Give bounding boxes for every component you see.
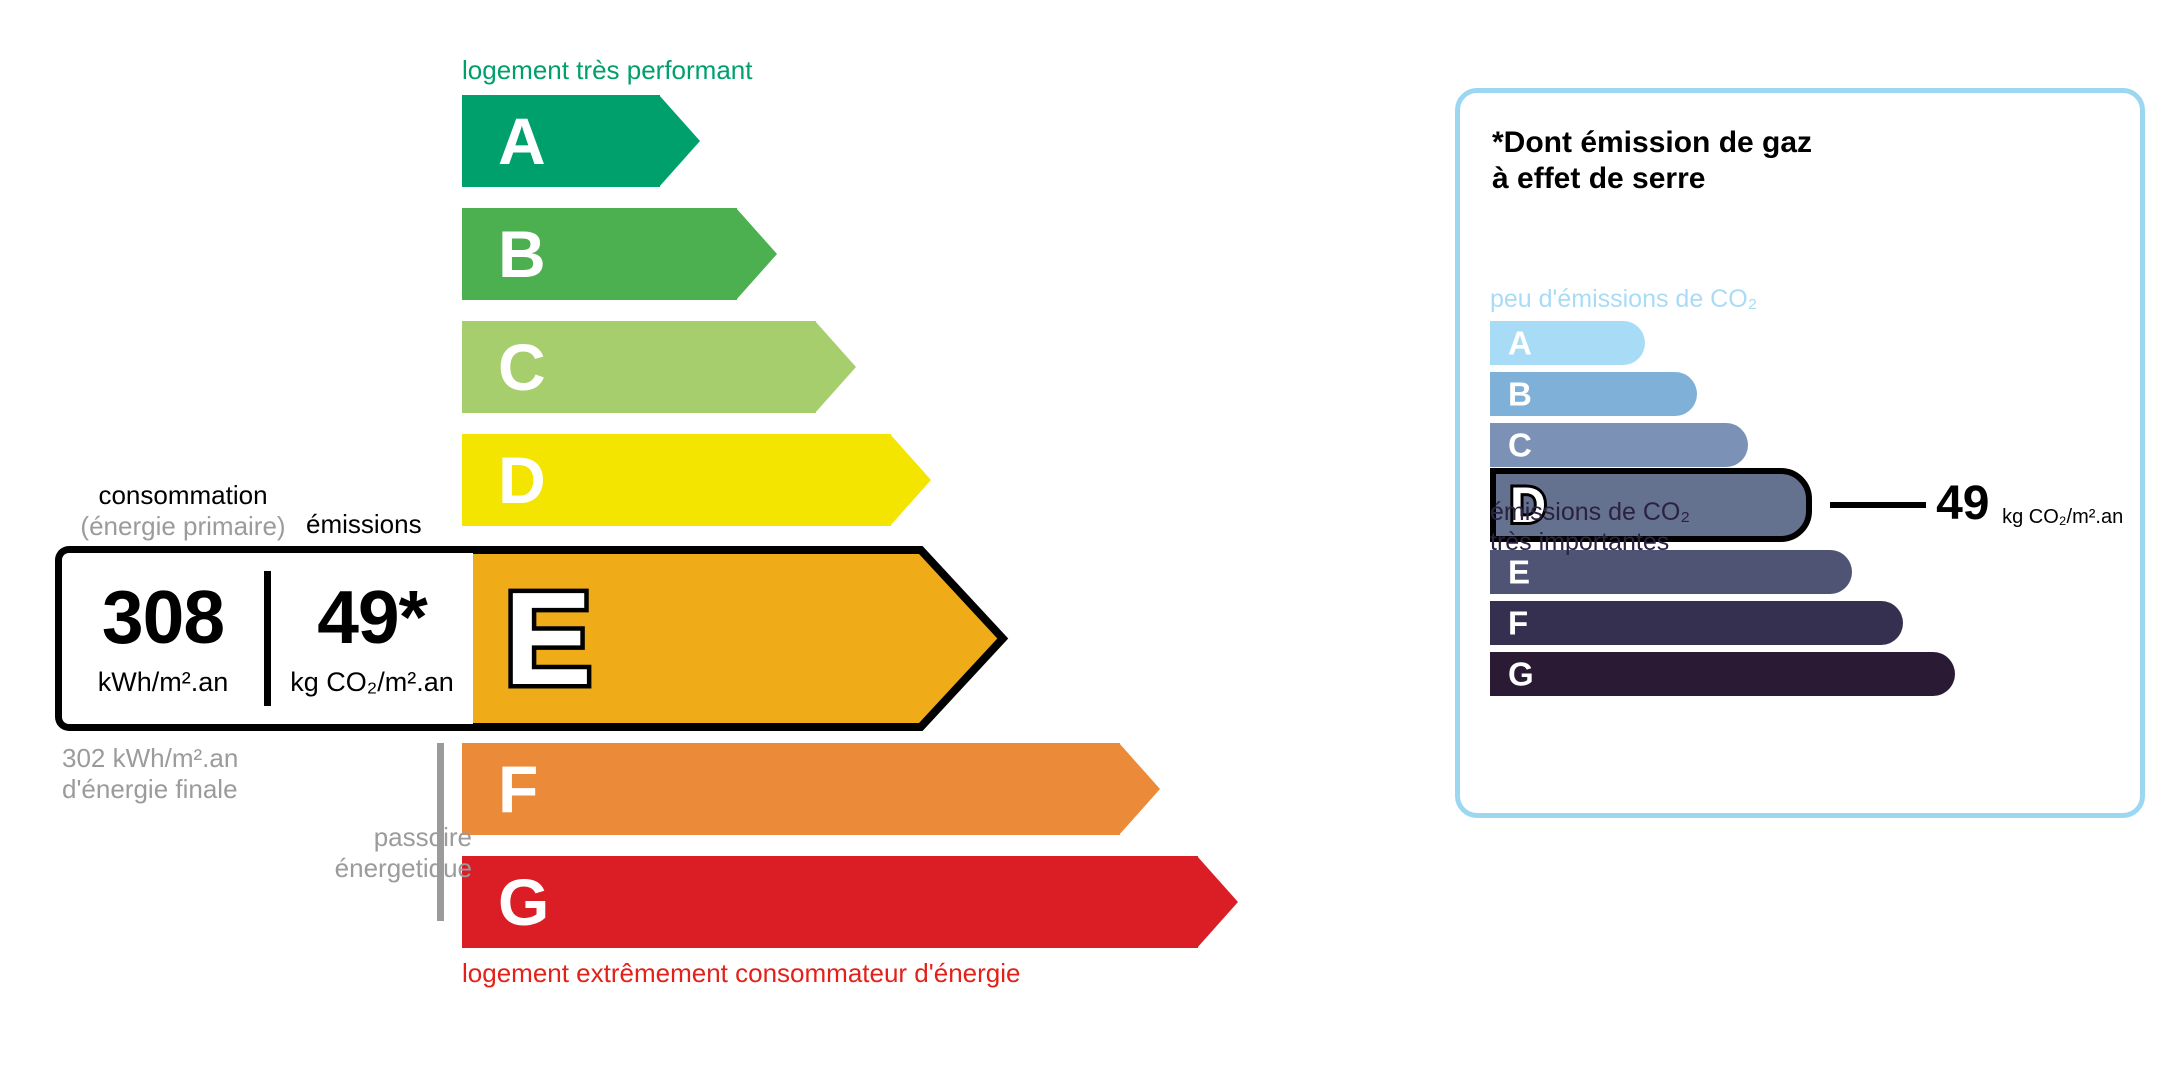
co2-bottom-line2: très importantes xyxy=(1490,527,1690,557)
emission-value: 49* xyxy=(317,580,427,655)
co2-class-letter-a: A xyxy=(1508,327,1532,360)
co2-class-letter-g: G xyxy=(1508,658,1534,691)
final-energy-note: 302 kWh/m².an d'énergie finale xyxy=(62,743,238,805)
co2-class-row-f: F xyxy=(1490,601,1903,645)
co2-class-row-g: G xyxy=(1490,652,1955,696)
energy-bottom-caption: logement extrêmement consommateur d'éner… xyxy=(462,958,1020,989)
co2-class-row-b: B xyxy=(1490,372,1697,416)
consumption-label: consommation (énergie primaire) xyxy=(68,480,298,541)
co2-class-letter-b: B xyxy=(1508,378,1532,411)
primary-energy-cell: 308 kWh/m².an xyxy=(62,553,264,724)
co2-emissions-panel: *Dont émission de gaz à effet de serre p… xyxy=(1455,88,2145,818)
energy-class-row-b: B xyxy=(462,208,777,300)
co2-class-row-c: C xyxy=(1490,423,1748,467)
consumption-label-line1: consommation xyxy=(68,480,298,511)
energy-bar-f-tip xyxy=(1119,743,1160,835)
final-energy-line1: 302 kWh/m².an xyxy=(62,743,238,774)
energy-bar-a-body xyxy=(462,95,660,187)
energy-class-row-e-selected: E xyxy=(462,546,999,731)
energy-bar-d-tip xyxy=(890,434,931,526)
energy-bar-f-body xyxy=(462,743,1120,835)
energy-class-letter-b: B xyxy=(498,221,546,287)
co2-class-letter-f: F xyxy=(1508,607,1528,640)
co2-panel-title: *Dont émission de gaz à effet de serre xyxy=(1492,125,1812,197)
passoire-note: passoire énergetique xyxy=(290,822,472,884)
co2-bottom-line1: émissions de CO₂ xyxy=(1490,497,1690,527)
energy-class-letter-a: A xyxy=(498,108,546,174)
co2-class-row-a: A xyxy=(1490,321,1645,365)
primary-energy-unit: kWh/m².an xyxy=(98,667,229,698)
value-box-divider xyxy=(264,571,271,706)
co2-callout-value: 49 xyxy=(1936,480,1989,528)
co2-callout-unit: kg CO₂/m².an xyxy=(2002,507,2123,527)
energy-class-letter-e: E xyxy=(504,573,592,705)
energy-bar-g-body xyxy=(462,856,1198,948)
energy-class-row-a: A xyxy=(462,95,700,187)
energy-class-row-f: F xyxy=(462,743,1160,835)
co2-callout-leader-line xyxy=(1830,502,1926,508)
energy-bar-a-tip xyxy=(659,95,700,187)
emission-cell: 49* kg CO₂/m².an xyxy=(271,553,473,724)
energy-class-row-c: C xyxy=(462,321,856,413)
value-readout-box: 308 kWh/m².an 49* kg CO₂/m².an xyxy=(55,546,473,731)
energy-top-caption: logement très performant xyxy=(462,55,752,86)
passoire-bracket xyxy=(437,743,444,921)
energy-bar-g-tip xyxy=(1197,856,1238,948)
co2-class-letter-e: E xyxy=(1508,556,1530,589)
energy-class-row-d: D xyxy=(462,434,931,526)
co2-title-line2: à effet de serre xyxy=(1492,161,1812,197)
consumption-label-line2: (énergie primaire) xyxy=(68,511,298,542)
emission-unit: kg CO₂/m².an xyxy=(290,667,454,698)
energy-class-letter-d: D xyxy=(498,447,546,513)
co2-top-caption: peu d'émissions de CO₂ xyxy=(1490,285,1757,314)
co2-title-line1: *Dont émission de gaz xyxy=(1492,125,1812,161)
energy-performance-chart: logement très performant A B xyxy=(0,0,1400,1079)
primary-energy-value: 308 xyxy=(102,580,224,655)
passoire-line2: énergetique xyxy=(290,853,472,884)
co2-class-letter-c: C xyxy=(1508,429,1532,462)
passoire-line1: passoire xyxy=(290,822,472,853)
energy-class-letter-c: C xyxy=(498,334,546,400)
final-energy-line2: d'énergie finale xyxy=(62,774,238,805)
energy-class-row-g: G xyxy=(462,856,1238,948)
emissions-label: émissions xyxy=(306,509,422,540)
energy-bar-c-tip xyxy=(815,321,856,413)
energy-bar-b-tip xyxy=(736,208,777,300)
energy-class-letter-g: G xyxy=(498,869,549,935)
dpe-energy-label: logement très performant A B xyxy=(0,0,2169,1079)
energy-class-letter-f: F xyxy=(498,756,538,822)
co2-bottom-caption: émissions de CO₂ très importantes xyxy=(1490,497,1690,557)
